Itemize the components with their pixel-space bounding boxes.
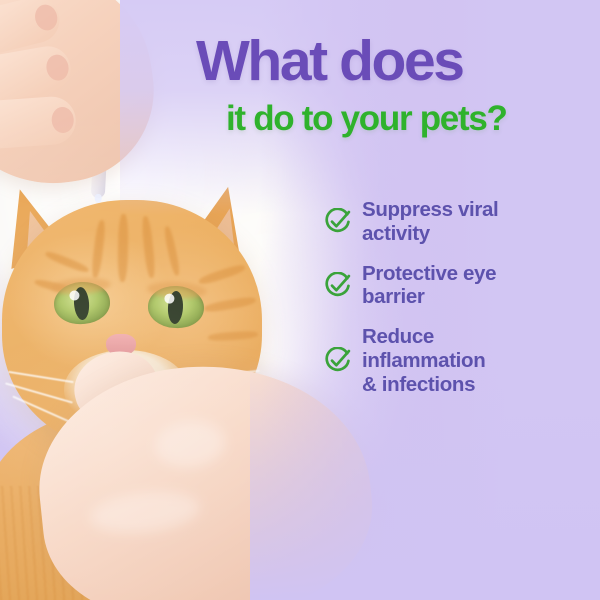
benefit-item: Protective eye barrier <box>324 262 564 310</box>
benefit-label: Reduce inflammation & infections <box>362 325 485 396</box>
benefit-label: Suppress viral activity <box>362 198 498 246</box>
check-circle-icon <box>324 347 351 374</box>
benefit-item: Reduce inflammation & infections <box>324 325 564 396</box>
check-circle-icon <box>324 208 351 235</box>
benefit-label: Protective eye barrier <box>362 262 496 310</box>
poster-canvas: What does it do to your pets? Suppress v… <box>0 0 600 600</box>
headline: What does <box>196 34 580 89</box>
check-circle-icon <box>324 272 351 299</box>
text-layer: What does it do to your pets? Suppress v… <box>0 0 600 600</box>
benefit-item: Suppress viral activity <box>324 198 564 246</box>
benefits-list: Suppress viral activity Protective eye b… <box>324 198 564 396</box>
subheadline: it do to your pets? <box>226 101 586 136</box>
